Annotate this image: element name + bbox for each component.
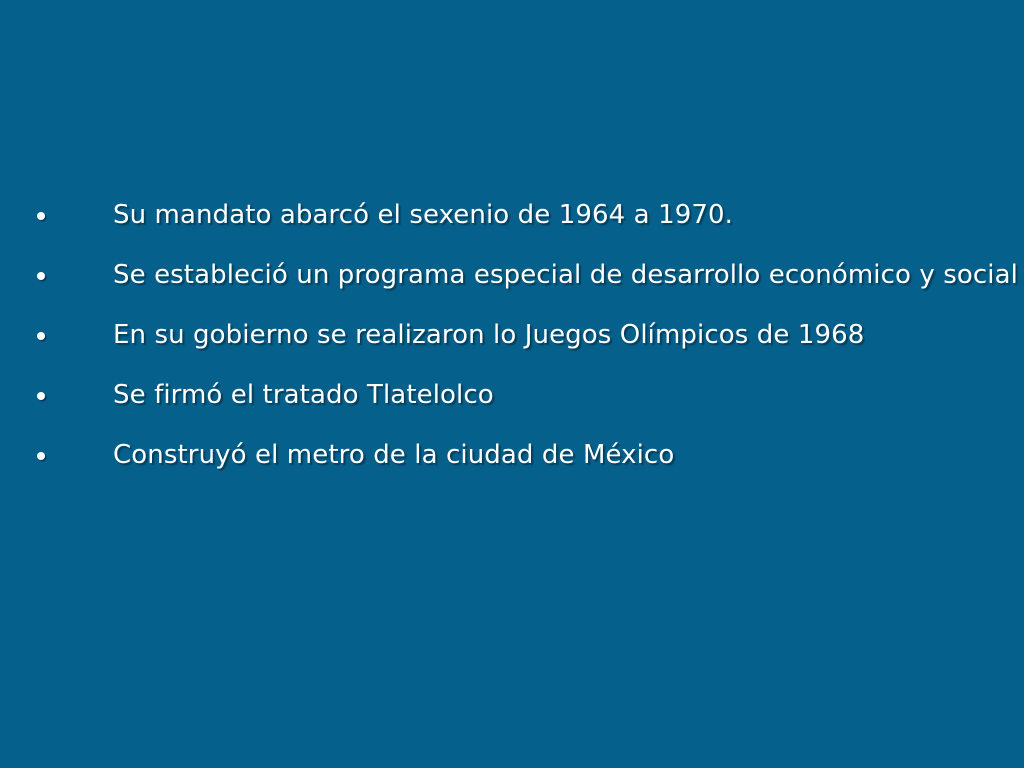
list-item[interactable]: Construyó el metro de la ciudad de Méxic… [0, 426, 1024, 486]
bullet-text: Se estableció un programa especial de de… [113, 261, 1018, 291]
list-item[interactable]: En su gobierno se realizaron lo Juegos O… [0, 306, 1024, 366]
bullet-text: En su gobierno se realizaron lo Juegos O… [113, 321, 864, 351]
bullet-text: Su mandato abarcó el sexenio de 1964 a 1… [113, 201, 733, 231]
bullet-dot-icon [37, 392, 45, 400]
bullet-dot-icon [37, 452, 45, 460]
slide-body-placeholder: Su mandato abarcó el sexenio de 1964 a 1… [0, 186, 1024, 486]
list-item[interactable]: Su mandato abarcó el sexenio de 1964 a 1… [0, 186, 1024, 246]
list-item[interactable]: Se estableció un programa especial de de… [0, 246, 1024, 306]
list-item[interactable]: Se firmó el tratado Tlatelolco [0, 366, 1024, 426]
bullet-text: Construyó el metro de la ciudad de Méxic… [113, 441, 674, 471]
bullet-dot-icon [37, 332, 45, 340]
slide-canvas: Su mandato abarcó el sexenio de 1964 a 1… [0, 0, 1024, 768]
bullet-list: Su mandato abarcó el sexenio de 1964 a 1… [0, 186, 1024, 486]
bullet-dot-icon [37, 212, 45, 220]
bullet-text: Se firmó el tratado Tlatelolco [113, 381, 494, 411]
bullet-dot-icon [37, 272, 45, 280]
